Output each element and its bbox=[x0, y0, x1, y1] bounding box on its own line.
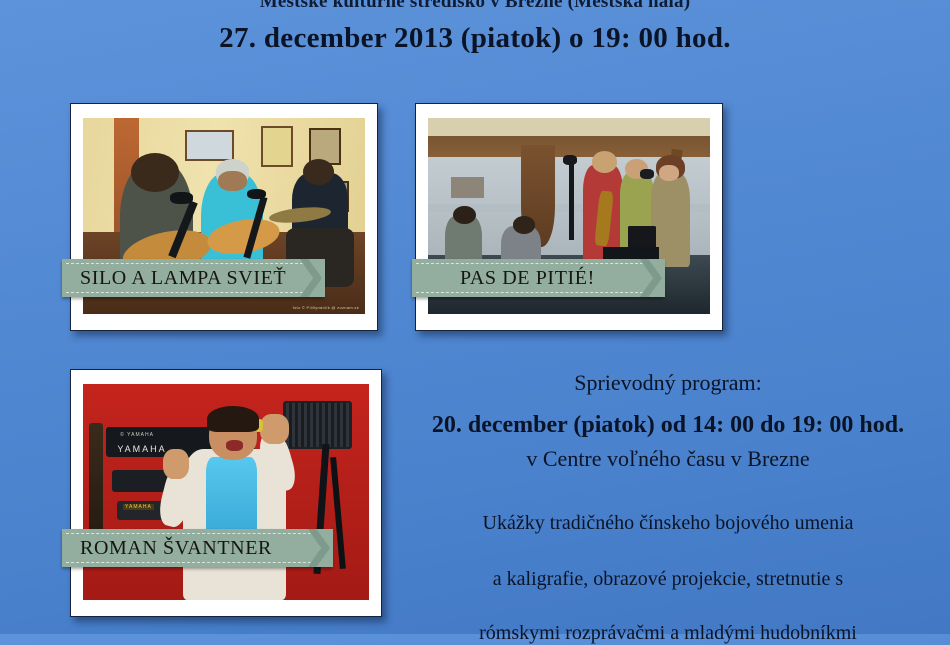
side-program-heading: Sprievodný program: bbox=[390, 370, 946, 396]
side-program-body-line-2: a kaligrafie, obrazové projekcie, stretn… bbox=[390, 568, 946, 591]
ribbon-notch-icon bbox=[299, 259, 325, 297]
photo-card-roman-svantner: © YAMAHA YAMAHA YAMAHA bbox=[70, 369, 382, 617]
caption-label: PAS DE PITIÉ! bbox=[412, 267, 595, 290]
poster-subtitle-clipped: Mestské kultúrne stredisko v Brezne (Mes… bbox=[0, 0, 950, 13]
photo-image-roman-svantner: © YAMAHA YAMAHA YAMAHA bbox=[83, 384, 369, 600]
ribbon-notch-icon bbox=[307, 529, 333, 567]
caption-ribbon-roman-svantner: ROMAN ŠVANTNER bbox=[62, 529, 332, 567]
caption-ribbon-silo-a-lampa-svet: SILO A LAMPA SVIEŤ bbox=[62, 259, 324, 297]
side-program-venue: v Centre voľného času v Brezne bbox=[390, 446, 946, 472]
side-program-datetime: 20. december (piatok) od 14: 00 do 19: 0… bbox=[390, 412, 946, 439]
caption-ribbon-pas-de-pitie: PAS DE PITIÉ! bbox=[412, 259, 664, 297]
poster-headline-date: 27. december 2013 (piatok) o 19: 00 hod. bbox=[0, 22, 950, 55]
photo-watermark: foto © P.Mlynárčik @ zoznam.sk bbox=[293, 305, 359, 310]
caption-label: ROMAN ŠVANTNER bbox=[62, 537, 272, 560]
event-poster: Mestské kultúrne stredisko v Brezne (Mes… bbox=[0, 0, 950, 634]
ribbon-notch-icon bbox=[639, 259, 665, 297]
side-program-body-line-1: Ukážky tradičného čínskeho bojového umen… bbox=[390, 512, 946, 535]
caption-label: SILO A LAMPA SVIEŤ bbox=[62, 267, 286, 290]
